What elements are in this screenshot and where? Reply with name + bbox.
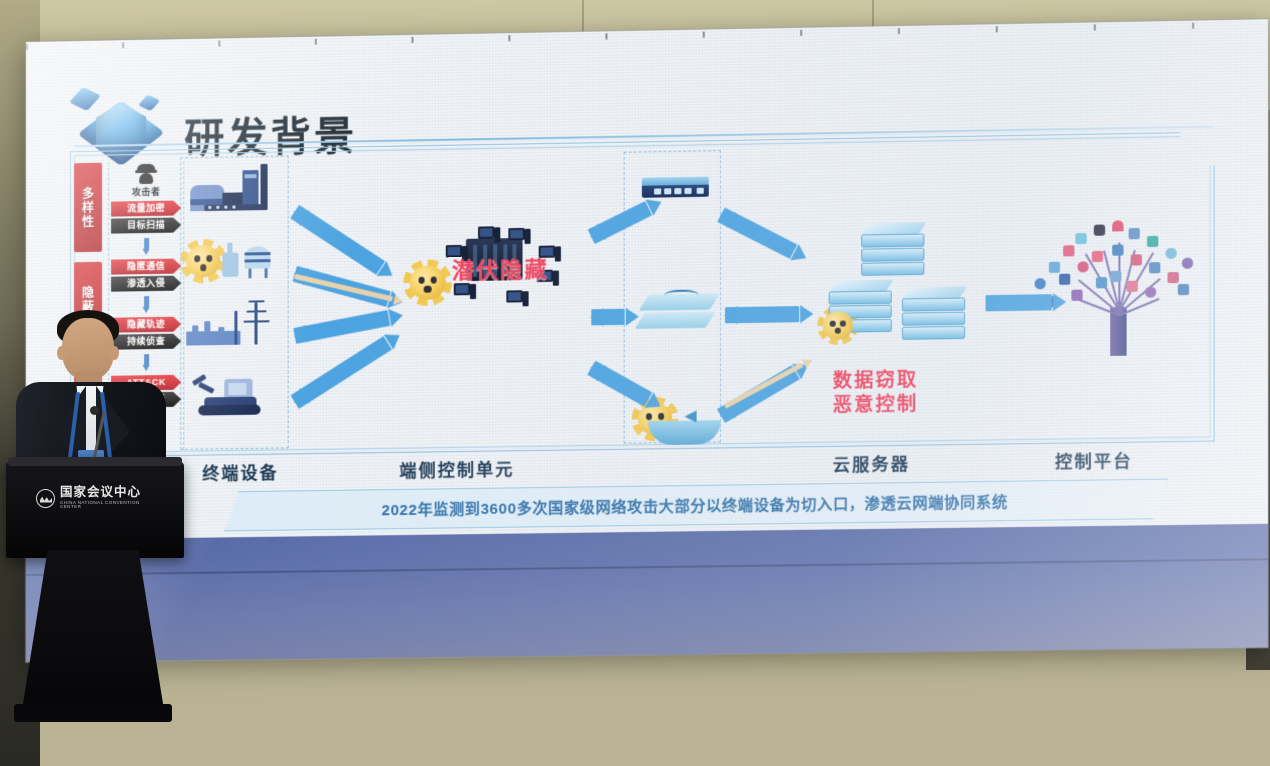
annotation-latent-hiding: 潜伏隐藏: [452, 252, 549, 286]
server-stack-icon: [902, 293, 965, 340]
attacker-label: 攻击者: [132, 185, 161, 198]
power-grid-icon: [186, 296, 282, 360]
speaker-at-podium: 国家会议中心 CHINA NATIONAL CONVENTION CENTER: [0, 300, 200, 766]
attack-stage-2-black: 渗透入侵: [111, 276, 181, 292]
excavator-machinery-icon: [186, 368, 282, 432]
summary-banner: 2022年监测到3600多次国家级网络攻击大部分以终端设备为切入口，渗透云网端协…: [224, 479, 1167, 532]
column-label-platform: 控制平台: [1055, 447, 1133, 473]
cloud-server-group: [823, 222, 986, 366]
convention-center-logo-icon: [36, 489, 55, 508]
factory-plant-icon: [186, 162, 282, 226]
presentation-slide: 研发背景 多样性 隐蔽性 动态性 攻击者 流量加密 目标扫描 隐匿通信: [26, 19, 1268, 540]
speaker-ear: [57, 346, 66, 360]
podium-foot: [14, 704, 172, 722]
hacker-icon: [135, 164, 157, 184]
podium-nameplate: 国家会议中心 CHINA NATIONAL CONVENTION CENTER: [36, 484, 154, 512]
workstation-icon: [508, 228, 530, 245]
workstation-icon: [454, 283, 476, 300]
workstation-icon: [506, 290, 528, 307]
podium-base: [22, 550, 164, 710]
podium-sign-english: CHINA NATIONAL CONVENTION CENTER: [60, 501, 154, 510]
flow-arrow-icon: [142, 238, 151, 255]
chemical-plant-virus-icon: [186, 230, 282, 294]
speaker-ear: [110, 346, 119, 360]
attack-stage-2-red: 隐匿通信: [111, 259, 181, 275]
podium-top-edge: [8, 457, 182, 466]
severity-label-diversity: 多样性: [74, 163, 102, 253]
flow-arrow-cloud-mid: [725, 306, 812, 323]
virus-character-icon: [823, 311, 854, 340]
microphone-icon: [90, 406, 99, 415]
attack-stage-1-black: 目标扫描: [111, 217, 181, 233]
flow-arrow-edge-mid: [591, 309, 638, 326]
flow-arrow-platform: [986, 294, 1066, 311]
iot-icon-tree: [1022, 213, 1216, 368]
column-label-terminal: 终端设备: [202, 459, 278, 485]
virus-character-icon: [409, 265, 445, 300]
workstation-icon: [478, 226, 500, 243]
annotation-data-theft-line1: 数据窃取: [833, 369, 919, 395]
column-label-cloud: 云服务器: [833, 450, 910, 476]
column-label-edge: 端侧控制单元: [399, 455, 514, 482]
summary-banner-text: 2022年监测到3600多次国家级网络攻击大部分以终端设备为切入口，渗透云网端协…: [381, 490, 1007, 519]
server-stack-icon: [861, 229, 924, 276]
stage-floor: [26, 524, 1268, 662]
podium: 国家会议中心 CHINA NATIONAL CONVENTION CENTER: [6, 462, 184, 558]
podium-sign-chinese: 国家会议中心: [60, 486, 154, 499]
speaker-head: [62, 318, 114, 380]
annotation-data-theft: 数据窃取 恶意控制: [833, 369, 919, 419]
annotation-malicious-control-line2: 恶意控制: [833, 393, 919, 419]
led-presentation-screen: 研发背景 多样性 隐蔽性 动态性 攻击者 流量加密 目标扫描 隐匿通信: [26, 19, 1268, 662]
attack-stage-1-red: 流量加密: [111, 200, 181, 216]
layered-network-icon: [638, 289, 717, 339]
